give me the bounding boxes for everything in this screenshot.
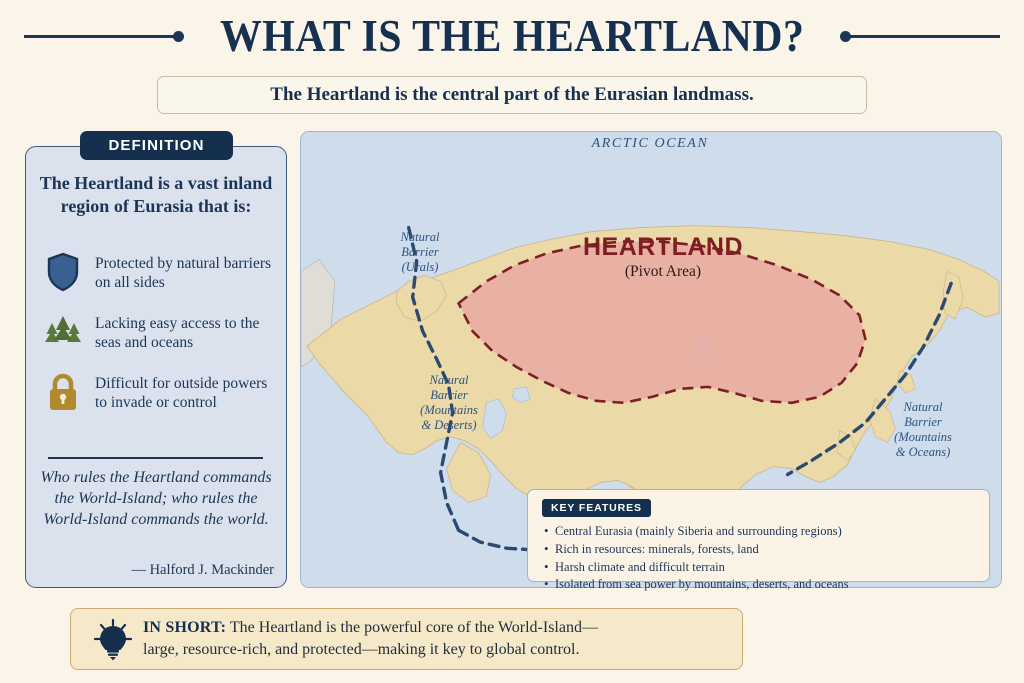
key-feature-item: Harsh climate and difficult terrain: [542, 559, 977, 577]
page-title: WHAT IS THE HEARTLAND?: [220, 10, 804, 62]
definition-item-text: Lacking easy access to the seas and ocea…: [95, 312, 275, 352]
definition-divider: [48, 457, 263, 459]
key-feature-item: Rich in resources: minerals, forests, la…: [542, 541, 977, 559]
subtitle-text: The Heartland is the central part of the…: [270, 84, 753, 106]
definition-item-invasion: Difficult for outside powers to invade o…: [43, 372, 275, 416]
key-feature-item: Central Eurasia (mainly Siberia and surr…: [542, 523, 977, 541]
definition-badge: DEFINITION: [80, 131, 233, 160]
in-short-banner: IN SHORT: The Heartland is the powerful …: [70, 608, 743, 670]
forest-icon: [43, 312, 83, 356]
title-rule-left: [24, 31, 184, 42]
subtitle-box: The Heartland is the central part of the…: [157, 76, 867, 114]
lightbulb-icon: [87, 617, 139, 661]
shield-icon: [43, 252, 83, 296]
definition-item-text: Protected by natural barriers on all sid…: [95, 252, 275, 292]
definition-lead-text: The Heartland is a vast inland region of…: [37, 172, 275, 217]
key-feature-item: Isolated from sea power by mountains, de…: [542, 576, 977, 594]
key-features-list: Central Eurasia (mainly Siberia and surr…: [542, 523, 977, 594]
key-features-badge: KEY FEATURES: [542, 499, 651, 517]
key-features-box: KEY FEATURES Central Eurasia (mainly Sib…: [527, 489, 990, 582]
lock-icon: [43, 372, 83, 416]
in-short-lead: IN SHORT:: [143, 619, 226, 636]
in-short-text: IN SHORT: The Heartland is the powerful …: [139, 617, 598, 660]
definition-item-landlocked: Lacking easy access to the seas and ocea…: [43, 312, 275, 356]
in-short-line1: The Heartland is the powerful core of th…: [226, 619, 598, 636]
quote-attribution: — Halford J. Mackinder: [36, 562, 274, 579]
definition-items-list: Protected by natural barriers on all sid…: [43, 252, 275, 432]
definition-item-text: Difficult for outside powers to invade o…: [95, 372, 275, 412]
definition-item-protected: Protected by natural barriers on all sid…: [43, 252, 275, 296]
page-header: WHAT IS THE HEARTLAND?: [0, 8, 1024, 64]
mackinder-quote: Who rules the Heartland commands the Wor…: [36, 468, 276, 530]
in-short-line2: large, resource-rich, and protected—maki…: [143, 641, 579, 658]
title-rule-right: [840, 31, 1000, 42]
